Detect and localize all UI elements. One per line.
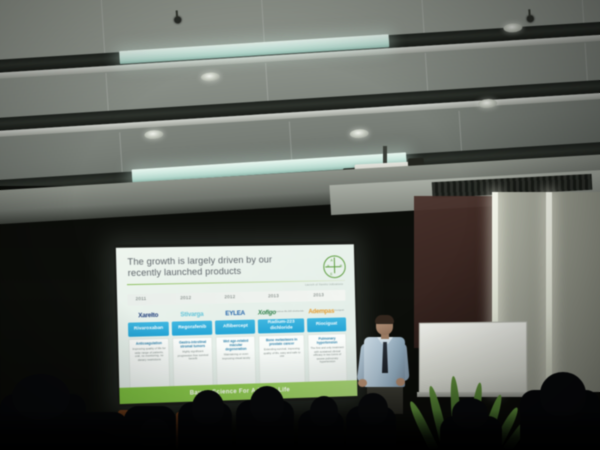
bayer-logo-letter-top: A (330, 258, 332, 262)
conference-room-photo: The growth is largely driven by our rece… (0, 0, 600, 450)
brand-logo-adempas: Adempas riociguat (308, 305, 344, 318)
year-label: 2011 (135, 296, 146, 301)
timeline-years: 2011 2012 2012 2013 2013 (127, 290, 345, 306)
presenter-glasses (377, 323, 392, 327)
brand-logo-xarelto: Xarelto (138, 309, 158, 322)
slide-title: The growth is largely driven by our rece… (127, 254, 303, 280)
year-label: 2013 (313, 292, 324, 297)
generic-name-badge: Aflibercept (215, 320, 255, 335)
generic-name-badge: Radium-223 dichloride (258, 318, 304, 333)
year-label: 2012 (224, 294, 235, 299)
generic-name-badge: Regorafenib (172, 321, 213, 336)
brand-logo-xofigo: Xofigo radium Ra 223 dichloride (258, 306, 304, 319)
bayer-logo-letter-left: B (327, 264, 329, 268)
brand-name: Xarelto (138, 311, 158, 319)
recessed-downlight (478, 99, 498, 109)
generic-name-badge: Riociguat (307, 317, 346, 332)
foreground-shadow (0, 410, 600, 450)
brand-name: EYLEA (225, 309, 245, 316)
bayer-logo-letter-bottom: E (330, 272, 332, 276)
launch-note: Launch of Xarelto indications (305, 283, 343, 287)
brand-logo-eylea: EYLEA (225, 307, 245, 319)
indication-text: Pulmonary hypertension (310, 336, 343, 345)
indication-text: Bone metastases in prostate cancer (262, 337, 302, 346)
indication-text: Wet age-related macular degeneration (219, 339, 253, 352)
bayer-logo-letter-right: R (340, 264, 342, 268)
bayer-cross-logo: B R A E (323, 255, 346, 278)
brand-name: Adempas (308, 307, 334, 315)
year-label: 2013 (268, 293, 279, 298)
indication-text: Gastro-intestinal stromal tumors (175, 340, 210, 349)
brand-logo-stivarga: Stivarga (180, 308, 203, 321)
generic-name-badge: Rivaroxaban (128, 322, 169, 337)
brand-name: Xofigo (258, 309, 276, 316)
year-label: 2012 (180, 295, 191, 300)
brand-subtext: radium Ra 223 dichloride (276, 311, 304, 314)
brand-name: Stivarga (180, 310, 203, 318)
brand-subtext: riociguat (334, 310, 344, 312)
